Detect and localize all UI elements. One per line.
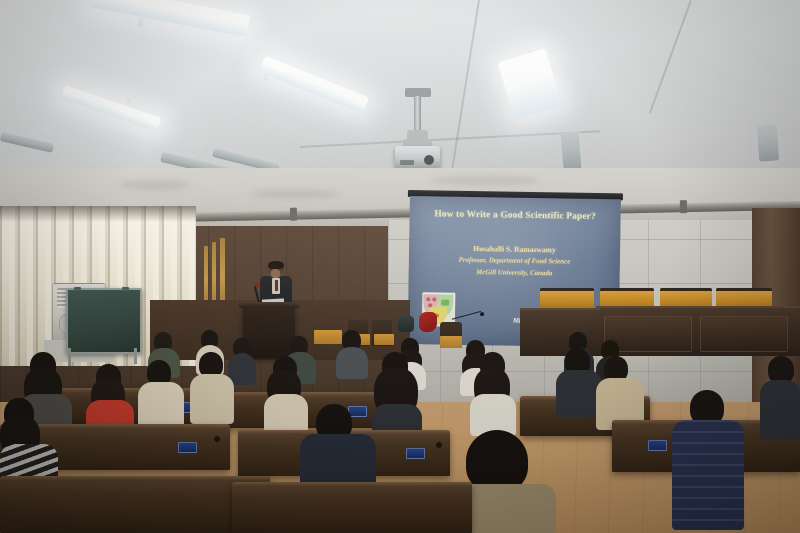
light-stem xyxy=(127,98,131,105)
curtain-top-shadow xyxy=(0,206,196,222)
light-stem xyxy=(138,18,143,27)
microphone xyxy=(254,283,259,287)
ceiling-light-9 xyxy=(757,124,779,161)
stage-chair-seat xyxy=(374,334,394,345)
chalkboard-leg xyxy=(134,348,137,364)
lectern xyxy=(243,306,295,358)
slide-author: Hosahalli S. Ramaswamy xyxy=(409,243,620,255)
slide-affiliation-line1: Professor, Department of Food Science xyxy=(409,256,620,266)
projector-lens xyxy=(424,155,434,165)
rolling-chalkboard xyxy=(66,288,142,354)
bench-row-front xyxy=(232,482,472,533)
bench-row-front xyxy=(0,476,270,533)
back-row-bench xyxy=(520,308,600,356)
slide-pointer-line xyxy=(452,311,481,320)
projector-pole xyxy=(414,96,421,132)
back-row-bench xyxy=(596,306,800,356)
plant-pot xyxy=(398,316,414,332)
chalkboard-leg xyxy=(68,348,71,366)
stage-chair-seat xyxy=(440,336,462,348)
slide-pointer-head xyxy=(480,312,484,316)
red-decoration xyxy=(419,312,437,332)
lecture-hall-photo: How to Write a Good Scientific Paper? Ho… xyxy=(0,0,800,533)
ceiling-light-8 xyxy=(560,131,581,170)
slide-title: How to Write a Good Scientific Paper? xyxy=(410,209,621,222)
stage-chair-seat xyxy=(314,330,342,344)
projector-vent xyxy=(400,160,414,165)
slide-affiliation-line2: McGill University, Canada xyxy=(409,268,620,278)
